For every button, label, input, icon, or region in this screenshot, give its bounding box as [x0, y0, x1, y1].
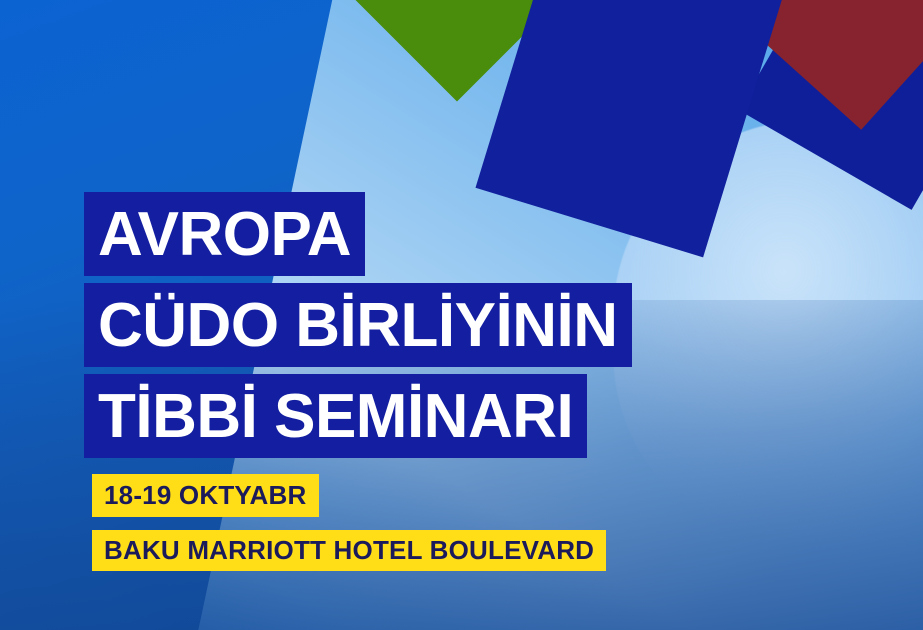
headline-line-1: AVROPA — [84, 192, 365, 276]
event-venue-banner: BAKU MARRIOTT HOTEL BOULEVARD — [92, 530, 606, 571]
event-details-group: 18-19 OKTYABR BAKU MARRIOTT HOTEL BOULEV… — [92, 474, 606, 571]
headline-group: AVROPA CÜDO BİRLİYİNİN TİBBİ SEMİNARI — [84, 192, 632, 458]
headline-line-3: TİBBİ SEMİNARI — [84, 374, 587, 458]
headline-line-2: CÜDO BİRLİYİNİN — [84, 283, 632, 367]
event-poster: AVROPA CÜDO BİRLİYİNİN TİBBİ SEMİNARI 18… — [0, 0, 923, 630]
event-date-banner: 18-19 OKTYABR — [92, 474, 319, 517]
